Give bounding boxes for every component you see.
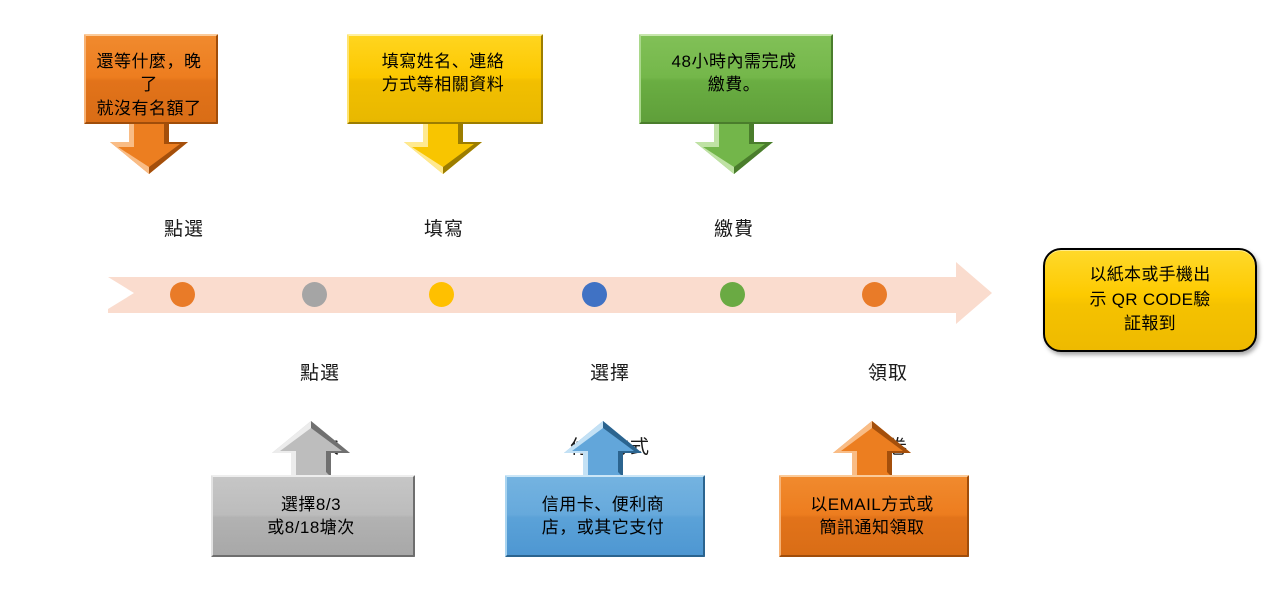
step-label-5-line1: 繳費 — [660, 211, 808, 248]
step-label-6-line1: 領取 — [818, 355, 958, 392]
timeline-dot-1[interactable] — [170, 282, 195, 307]
timeline-dot-3[interactable] — [429, 282, 454, 307]
timeline-dot-6[interactable] — [862, 282, 887, 307]
callout-payment-text: 48小時內需完成 繳費。 — [639, 50, 829, 97]
callout-session[interactable]: 選擇8/3 或8/18塘次 — [211, 421, 411, 553]
callout-ticket[interactable]: 以EMAIL方式或 簡訊通知領取 — [779, 421, 965, 553]
step-label-1-line1: 點選 — [110, 211, 258, 248]
callout-ticket-text: 以EMAIL方式或 簡訊通知領取 — [779, 493, 965, 540]
callout-paymethod-text: 信用卡、便利商 店，或其它支付 — [505, 493, 701, 540]
timeline-dot-4[interactable] — [582, 282, 607, 307]
step-label-3-line1: 填寫 — [370, 211, 518, 248]
endcard-qrcode[interactable]: 以紙本或手機出 示 QR CODE驗 証報到 — [1043, 248, 1257, 352]
callout-fillin-text: 填寫姓名、連絡 方式等相關資料 — [347, 50, 539, 97]
endcard-qrcode-text: 以紙本或手機出 示 QR CODE驗 証報到 — [1079, 263, 1220, 337]
step-label-4-line1: 選擇 — [540, 355, 680, 392]
callout-fillin[interactable]: 填寫姓名、連絡 方式等相關資料 — [347, 34, 539, 174]
callout-paymethod[interactable]: 信用卡、便利商 店，或其它支付 — [505, 421, 701, 553]
callout-signup[interactable]: 還等什麼，晚了 就沒有名額了 — [84, 34, 214, 174]
callout-payment[interactable]: 48小時內需完成 繳費。 — [639, 34, 829, 174]
timeline-dot-2[interactable] — [302, 282, 327, 307]
flow-diagram-canvas: 還等什麼，晚了 就沒有名額了 填寫姓名、連絡 方式等相關資料 48小時內需完成 … — [0, 0, 1270, 605]
step-label-2-line1: 點選 — [250, 355, 390, 392]
callout-session-text: 選擇8/3 或8/18塘次 — [211, 493, 411, 540]
timeline-dot-5[interactable] — [720, 282, 745, 307]
callout-signup-text: 還等什麼，晚了 就沒有名額了 — [84, 50, 214, 120]
